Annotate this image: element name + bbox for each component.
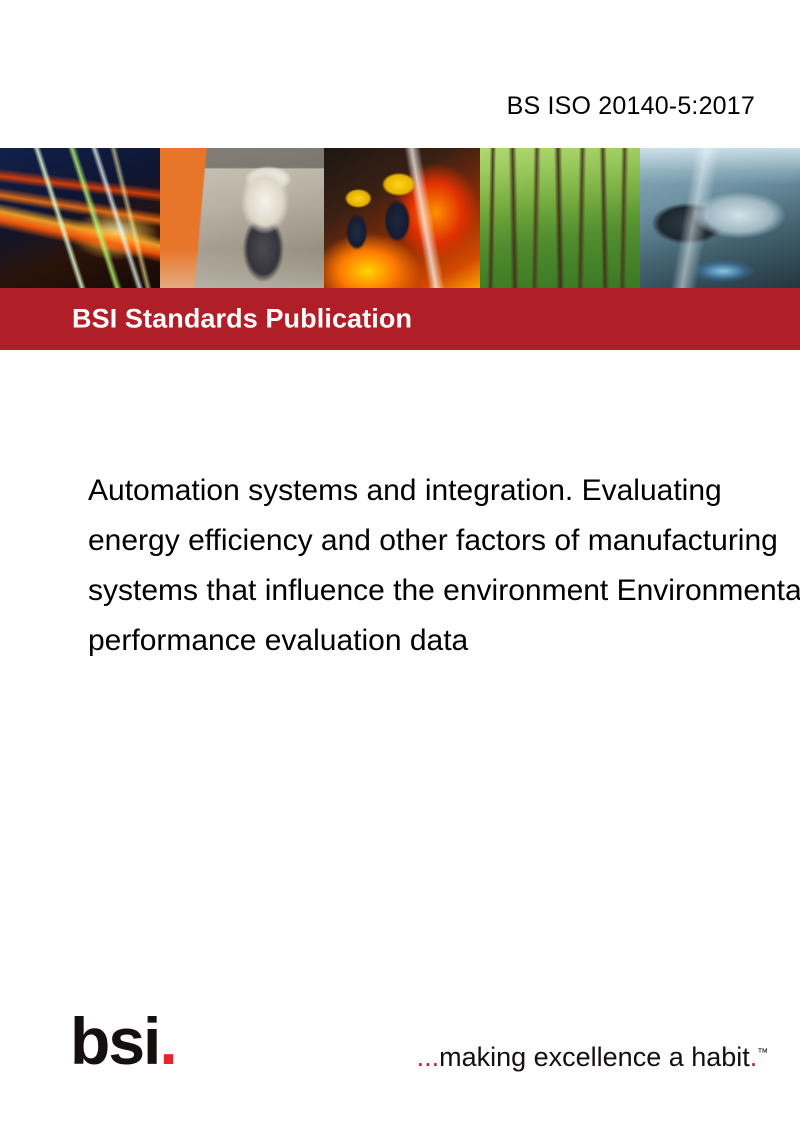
title-line-1: Automation systems and integration. Eval… <box>88 466 800 516</box>
cover-image-conifer-forest <box>480 148 640 288</box>
bsi-logo-dot: . <box>159 1004 175 1078</box>
document-title: Automation systems and integration. Eval… <box>88 466 800 666</box>
publication-banner: BSI Standards Publication <box>0 288 800 350</box>
bsi-logo-wordmark: bsi <box>70 1004 159 1078</box>
cover-image-car-assembly-line <box>640 148 800 288</box>
cover-image-warehouse-worker <box>160 148 324 288</box>
bsi-tagline: ...making excellence a habit.™ <box>417 1038 768 1072</box>
tagline-ellipsis: ... <box>417 1042 440 1072</box>
bsi-logo: bsi. <box>70 1008 176 1074</box>
cover-image-night-traffic-light-trails <box>0 148 160 288</box>
trademark-icon: ™ <box>757 1047 768 1059</box>
title-line-2: energy efficiency and other factors of m… <box>88 516 800 566</box>
cover-photo-strip <box>0 148 800 288</box>
standard-number: BS ISO 20140-5:2017 <box>507 92 755 121</box>
title-line-3: systems that influence the environment E… <box>88 566 800 616</box>
cover-image-firefighters <box>324 148 480 288</box>
title-line-4: performance evaluation data <box>88 616 800 666</box>
tagline-text: making excellence a habit <box>439 1042 750 1072</box>
publication-banner-label: BSI Standards Publication <box>72 304 412 335</box>
